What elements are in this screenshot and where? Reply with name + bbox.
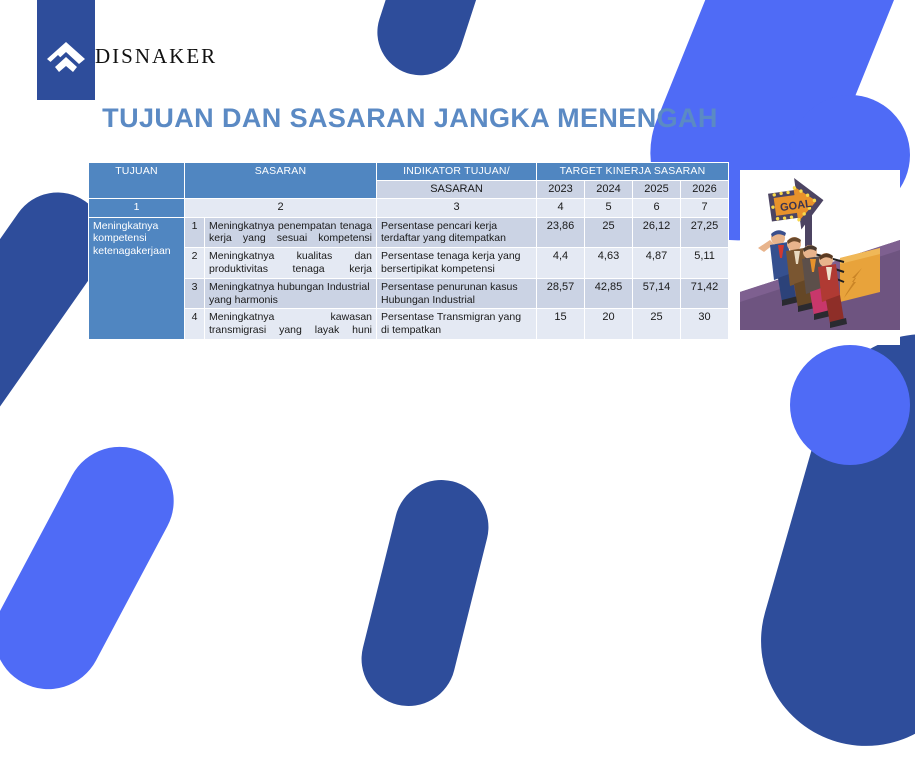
brand-name: DISNAKER <box>95 44 217 69</box>
target-2026: 71,42 <box>681 278 729 309</box>
header-year-2026: 2026 <box>681 180 729 198</box>
header-tujuan: TUJUAN <box>89 163 185 199</box>
header-year-2025: 2025 <box>633 180 681 198</box>
sasaran-text: Meningkatnya kawasan transmigrasi yang l… <box>205 309 377 340</box>
column-number-7: 7 <box>681 199 729 217</box>
indikator-text: Persentase tenaga kerja yang bersertipik… <box>377 248 537 279</box>
header-indikator-sasaran: SASARAN <box>377 180 537 198</box>
target-2024: 20 <box>585 309 633 340</box>
decorative-circle-below-illustration <box>790 345 910 465</box>
indikator-text: Persentase pencari kerja terdaftar yang … <box>377 217 537 248</box>
column-number-1: 1 <box>89 199 185 217</box>
column-number-3: 3 <box>377 199 537 217</box>
header-indikator-tujuan: INDIKATOR TUJUAN/ <box>377 163 537 181</box>
sasaran-text: Meningkatnya hubungan Industrial yang ha… <box>205 278 377 309</box>
table-row: 4 Meningkatnya kawasan transmigrasi yang… <box>89 309 729 340</box>
tujuan-sasaran-table: TUJUAN SASARAN INDIKATOR TUJUAN/ TARGET … <box>88 162 729 340</box>
target-2026: 30 <box>681 309 729 340</box>
table-row: Meningkatnya kompetensi ketenagakerjaan … <box>89 217 729 248</box>
header-sasaran: SASARAN <box>185 163 377 199</box>
target-2023: 28,57 <box>537 278 585 309</box>
target-2023: 15 <box>537 309 585 340</box>
target-2026: 5,11 <box>681 248 729 279</box>
indikator-text: Persentase Transmigran yang di tempatkan <box>377 309 537 340</box>
page-title: TUJUAN DAN SASARAN JANGKA MENENGAH <box>0 103 820 134</box>
decorative-pill-bottom-middle <box>352 470 499 716</box>
target-2024: 42,85 <box>585 278 633 309</box>
target-2025: 4,87 <box>633 248 681 279</box>
chevron-up-double-icon <box>42 38 90 74</box>
decorative-pill-bottom-left <box>0 428 193 708</box>
tujuan-cell: Meningkatnya kompetensi ketenagakerjaan <box>89 217 185 339</box>
row-number: 2 <box>185 248 205 279</box>
target-2026: 27,25 <box>681 217 729 248</box>
table-container: TUJUAN SASARAN INDIKATOR TUJUAN/ TARGET … <box>88 162 728 340</box>
indikator-text: Persentase penurunan kasus Hubungan Indu… <box>377 278 537 309</box>
target-2023: 23,86 <box>537 217 585 248</box>
header-target-kinerja-sasaran: TARGET KINERJA SASARAN <box>537 163 729 181</box>
row-number: 3 <box>185 278 205 309</box>
target-2025: 25 <box>633 309 681 340</box>
target-2024: 25 <box>585 217 633 248</box>
row-number: 1 <box>185 217 205 248</box>
row-number: 4 <box>185 309 205 340</box>
table-row: 2 Meningkatnya kualitas dan produktivita… <box>89 248 729 279</box>
table-header-row-1: TUJUAN SASARAN INDIKATOR TUJUAN/ TARGET … <box>89 163 729 181</box>
column-number-5: 5 <box>585 199 633 217</box>
target-2025: 57,14 <box>633 278 681 309</box>
column-number-4: 4 <box>537 199 585 217</box>
decorative-pill-bottom-right <box>736 309 915 771</box>
sasaran-text: Meningkatnya kualitas dan produktivitas … <box>205 248 377 279</box>
target-2023: 4,4 <box>537 248 585 279</box>
goal-illustration: GOAL <box>740 170 900 345</box>
column-number-2: 2 <box>185 199 377 217</box>
header-year-2023: 2023 <box>537 180 585 198</box>
target-2025: 26,12 <box>633 217 681 248</box>
target-2024: 4,63 <box>585 248 633 279</box>
header-year-2024: 2024 <box>585 180 633 198</box>
sasaran-text: Meningkatnya penempatan tenaga kerja yan… <box>205 217 377 248</box>
column-number-6: 6 <box>633 199 681 217</box>
decorative-pill-top-middle <box>366 0 510 86</box>
table-row: 3 Meningkatnya hubungan Industrial yang … <box>89 278 729 309</box>
table-column-number-row: 1 2 3 4 5 6 7 <box>89 199 729 217</box>
